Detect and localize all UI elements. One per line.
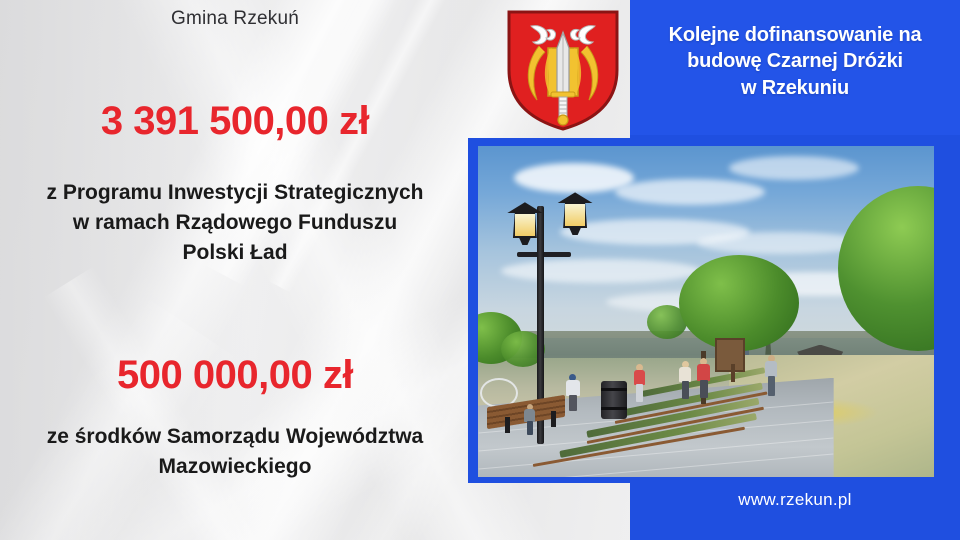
lantern-foot — [569, 227, 581, 235]
funding-source-primary-line1: z Programu Inwestycji Strategicznych — [0, 178, 470, 208]
lantern-glass — [513, 212, 537, 238]
lantern-foot — [519, 237, 531, 245]
funding-amount-secondary: 500 000,00 zł — [0, 353, 470, 398]
poster-canvas: Gmina Rzekuń 3 391 500,00 zł z Programu … — [0, 0, 960, 540]
person-body — [765, 361, 777, 377]
person-legs — [700, 380, 708, 398]
tree — [679, 255, 799, 351]
paving-joint — [479, 454, 833, 477]
funding-amount-primary: 3 391 500,00 zł — [0, 99, 470, 144]
person-body — [634, 370, 645, 385]
funding-source-primary-line3: Polski Ład — [0, 238, 470, 268]
page-title-line1: Kolejne dofinansowanie na — [632, 22, 958, 48]
lamp-crossarm — [517, 252, 572, 257]
lantern-icon — [510, 202, 540, 246]
background-streak — [43, 266, 316, 540]
cloud — [729, 156, 859, 180]
information-board-post — [731, 364, 735, 382]
person-legs — [682, 381, 689, 399]
lantern-cap — [557, 192, 593, 203]
cloud — [615, 179, 765, 205]
funding-source-secondary-line2: Mazowieckiego — [0, 452, 470, 482]
lantern-glass — [563, 202, 587, 228]
coat-of-arms-icon — [503, 8, 623, 130]
person-legs — [636, 384, 643, 402]
municipality-label: Gmina Rzekuń — [0, 8, 470, 30]
website-url[interactable]: www.rzekun.pl — [632, 490, 958, 510]
cloud — [501, 259, 701, 283]
waste-bin-band — [601, 407, 627, 410]
waste-bin-band — [601, 388, 627, 391]
funding-source-secondary: ze środków Samorządu Województwa Mazowie… — [0, 422, 470, 482]
person-body — [679, 367, 691, 382]
page-title: Kolejne dofinansowanie na budowę Czarnej… — [632, 22, 958, 101]
person-legs — [768, 376, 775, 396]
person-body — [566, 380, 580, 396]
person-body — [697, 364, 710, 381]
background-streak — [0, 295, 242, 540]
person-legs — [569, 395, 577, 411]
funding-source-primary: z Programu Inwestycji Strategicznych w r… — [0, 178, 470, 268]
page-title-line2: budowę Czarnej Dróżki — [632, 48, 958, 74]
funding-source-secondary-line1: ze środków Samorządu Województwa — [0, 422, 470, 452]
bench-leg — [551, 411, 556, 427]
page-title-line3: w Rzekuniu — [632, 75, 958, 101]
project-visualization-image — [478, 146, 934, 477]
lantern-icon — [560, 192, 590, 236]
funding-source-primary-line2: w ramach Rządowego Funduszu — [0, 208, 470, 238]
person-legs — [527, 421, 533, 435]
bench-leg — [505, 417, 510, 433]
lantern-cap — [507, 202, 543, 213]
